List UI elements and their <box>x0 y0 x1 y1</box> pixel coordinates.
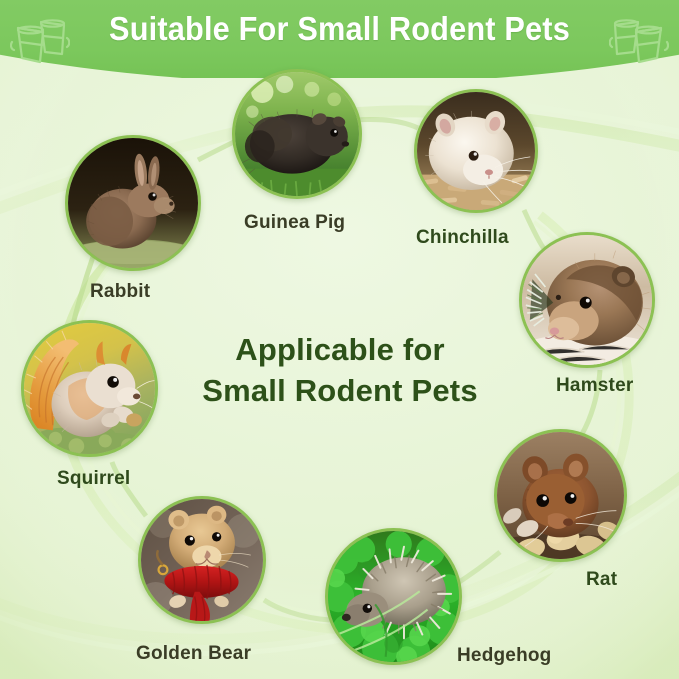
animal-photo-rabbit[interactable] <box>65 135 201 271</box>
poster-root: Suitable For Small Rodent Pets Applicabl… <box>0 0 679 679</box>
animal-label-golden-bear: Golden Bear <box>136 643 251 665</box>
hedgehog-image <box>328 531 459 662</box>
center-caption: Applicable for Small Rodent Pets <box>150 330 530 412</box>
guinea-pig-image <box>235 72 359 196</box>
animal-photo-chinchilla[interactable] <box>414 89 538 213</box>
animal-photo-guinea-pig[interactable] <box>232 69 362 199</box>
animal-label-hedgehog: Hedgehog <box>457 645 552 667</box>
animal-label-squirrel: Squirrel <box>57 468 130 490</box>
rat-image <box>497 432 624 559</box>
animal-label-hamster: Hamster <box>556 375 633 397</box>
animal-photo-squirrel[interactable] <box>21 320 158 457</box>
rabbit-image <box>68 138 198 268</box>
animal-label-rat: Rat <box>586 569 617 591</box>
animal-photo-golden-bear[interactable] <box>138 496 266 624</box>
animal-photo-hedgehog[interactable] <box>325 528 462 665</box>
header-banner: Suitable For Small Rodent Pets <box>0 0 679 78</box>
chinchilla-image <box>417 92 535 210</box>
center-caption-line2: Small Rodent Pets <box>150 371 530 412</box>
animal-label-rabbit: Rabbit <box>90 281 150 303</box>
animal-photo-rat[interactable] <box>494 429 627 562</box>
hamster-image <box>522 235 652 365</box>
animal-photo-hamster[interactable] <box>519 232 655 368</box>
center-caption-line1: Applicable for <box>150 330 530 371</box>
golden-bear-image <box>141 499 263 621</box>
squirrel-image <box>24 323 155 454</box>
animal-label-chinchilla: Chinchilla <box>416 227 509 249</box>
page-title: Suitable For Small Rodent Pets <box>20 10 659 48</box>
animal-label-guinea-pig: Guinea Pig <box>244 212 345 234</box>
